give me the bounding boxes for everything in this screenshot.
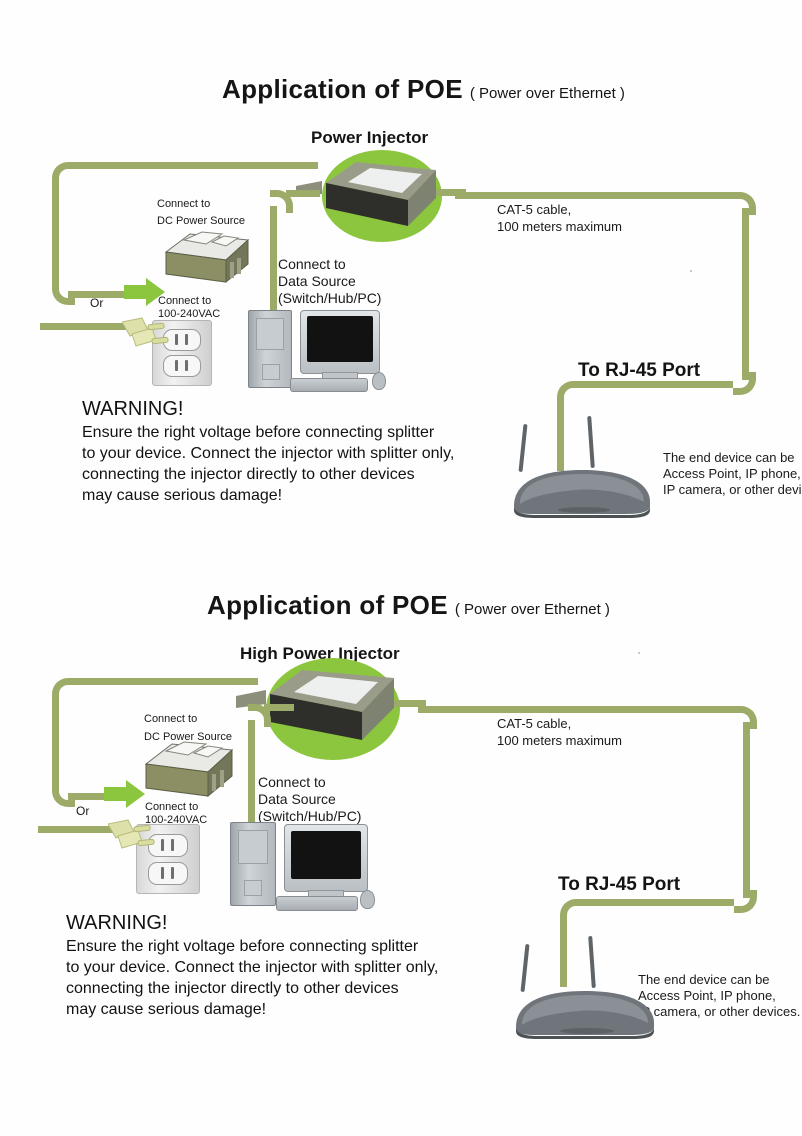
data-source-label-line1: Connect to	[278, 256, 346, 273]
power-injector-device	[296, 148, 466, 246]
page-title-2: Application of POE( Power over Ethernet …	[207, 590, 610, 621]
data-source-label-line3: (Switch/Hub/PC)	[278, 290, 381, 307]
injector-body	[296, 148, 466, 246]
cable-right-vertical	[742, 208, 749, 380]
data-source-label-line2-2: Data Source	[258, 791, 336, 808]
pc-monitor	[300, 310, 380, 374]
pc-mouse	[372, 372, 386, 390]
ac-power-label-line1-2: Connect to	[145, 800, 198, 814]
data-source-label-line2: Data Source	[278, 273, 356, 290]
pc-monitor-2	[284, 824, 368, 892]
router-device	[506, 462, 666, 518]
dc-power-label-line1-2: Connect to	[144, 712, 197, 726]
pc-tower-bay	[256, 318, 284, 350]
cable-to-router	[557, 397, 564, 471]
cable-corner-bottom-right	[733, 372, 756, 395]
cable-data-vertical	[270, 206, 277, 314]
injector-label: Power Injector	[311, 128, 428, 148]
rj45-port-label-2: To RJ-45 Port	[558, 874, 680, 896]
router-antenna-right	[587, 416, 595, 468]
pc-tower-bay-2	[238, 830, 268, 864]
cable-left-vertical	[52, 178, 59, 282]
or-label-2: Or	[76, 804, 89, 818]
title-subtitle: ( Power over Ethernet )	[470, 85, 625, 102]
cable-ac-horizontal	[40, 323, 132, 330]
warning-line-2: to your device. Connect the injector wit…	[82, 443, 454, 464]
cable-corner-bottom-right-2	[734, 890, 757, 913]
cable-lower-horizontal-2	[576, 899, 734, 906]
warning-line-4: may cause serious damage!	[82, 485, 454, 506]
dc-power-brick	[160, 226, 256, 288]
end-device-label-line2: Access Point, IP phone,	[663, 466, 801, 482]
page-title: Application of POE( Power over Ethernet …	[222, 74, 625, 105]
monitor-screen	[307, 316, 373, 362]
warning-line-1: Ensure the right voltage before connecti…	[82, 422, 454, 443]
pc-mouse-2	[360, 890, 375, 909]
pc-tower-panel	[262, 364, 280, 380]
cable-cat5-horizontal-2	[418, 706, 742, 713]
title-main-2: Application of POE	[207, 590, 448, 620]
warning-heading: WARNING!	[82, 396, 454, 422]
pc-keyboard-2	[276, 896, 358, 911]
cat5-label-line1: CAT-5 cable,	[497, 202, 571, 218]
cable-data-vertical-2	[248, 720, 255, 826]
warning-line-4-2: may cause serious damage!	[66, 999, 438, 1020]
router-antenna-right-2	[588, 936, 596, 988]
warning-block: WARNING! Ensure the right voltage before…	[82, 396, 454, 506]
router-device-2	[508, 982, 670, 1040]
cable-right-vertical-2	[743, 722, 750, 898]
cable-data-horizontal-2	[264, 704, 294, 711]
ac-plug	[122, 316, 170, 365]
cable-lower-horizontal	[573, 381, 733, 388]
dc-power-label-line1: Connect to	[157, 197, 210, 211]
ac-power-label-line1: Connect to	[158, 294, 211, 308]
dc-power-brick-2	[140, 736, 240, 802]
warning-line-3-2: connecting the injector directly to othe…	[66, 978, 438, 999]
cable-top-horizontal-2	[68, 678, 258, 685]
warning-line-1-2: Ensure the right voltage before connecti…	[66, 936, 438, 957]
cable-to-dc-brick-2	[68, 793, 108, 800]
title-subtitle-2: ( Power over Ethernet )	[455, 601, 610, 618]
cable-to-router-2	[560, 915, 567, 987]
pc-tower-panel-2	[244, 880, 262, 896]
cat5-label-line2: 100 meters maximum	[497, 219, 622, 235]
poe-diagram-standard: Application of POE( Power over Ethernet …	[0, 0, 802, 552]
rj45-port-label: To RJ-45 Port	[578, 360, 700, 382]
or-label: Or	[90, 296, 103, 310]
poe-diagram-high-power: Application of POE( Power over Ethernet …	[0, 552, 802, 1136]
pc-keyboard	[290, 378, 368, 392]
cable-data-horizontal	[286, 190, 320, 197]
cable-left-vertical-2	[52, 694, 59, 784]
title-main: Application of POE	[222, 74, 463, 104]
speck	[690, 270, 692, 272]
speck-2	[638, 652, 640, 654]
cable-top-horizontal	[68, 162, 318, 169]
cat5-label-line1-2: CAT-5 cable,	[497, 716, 571, 732]
cable-cat5-horizontal	[455, 192, 741, 199]
end-device-label-line3: IP camera, or other devic	[663, 482, 802, 498]
ac-plug-2	[108, 818, 156, 869]
monitor-screen-2	[291, 831, 361, 879]
end-device-label-line1: The end device can be	[663, 450, 795, 466]
warning-heading-2: WARNING!	[66, 910, 438, 936]
warning-line-2-2: to your device. Connect the injector wit…	[66, 957, 438, 978]
warning-block-2: WARNING! Ensure the right voltage before…	[66, 910, 438, 1020]
warning-line-3: connecting the injector directly to othe…	[82, 464, 454, 485]
data-source-label-line1-2: Connect to	[258, 774, 326, 791]
cat5-label-line2-2: 100 meters maximum	[497, 733, 622, 749]
